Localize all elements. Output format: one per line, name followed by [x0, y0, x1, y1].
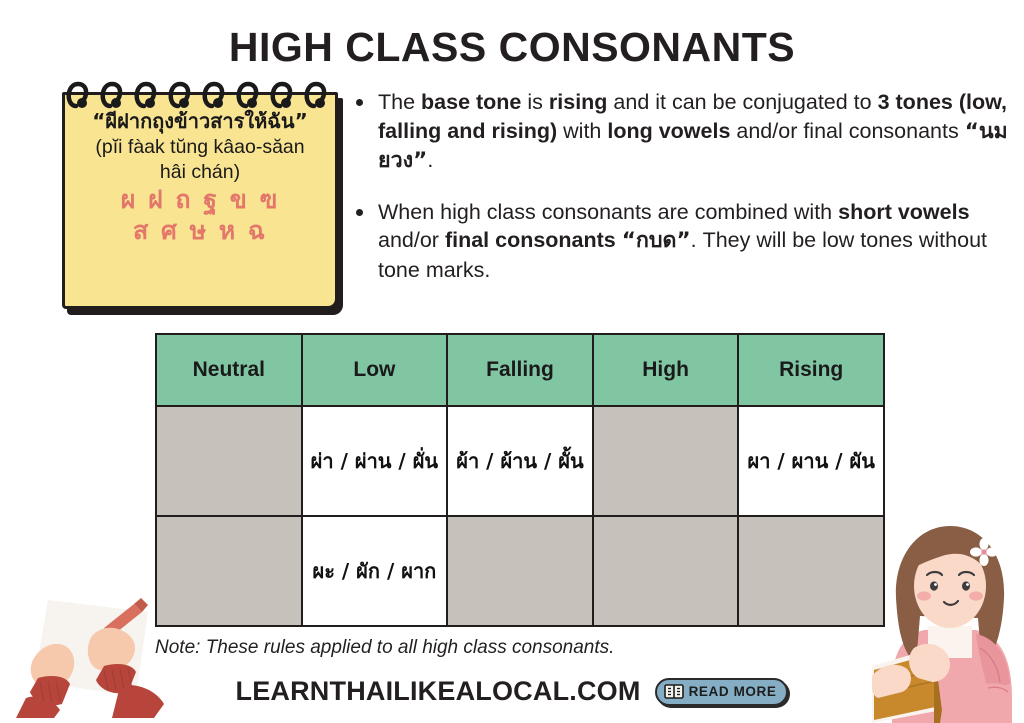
infographic-page: HIGH CLASS CONSONANTS “ผีฝากถุงข้าวสารให… — [0, 0, 1024, 723]
table-cell-r1-c2: ผ่า / ผ่าน / ผั่น — [302, 406, 448, 516]
brand-website-label: LEARNTHAILIKEALOCAL.COM — [236, 676, 641, 707]
rule-1-segment-8: long vowels — [607, 119, 730, 143]
table-header-high: High — [593, 334, 739, 406]
table-body: ผ่า / ผ่าน / ผั่นผ้า / ผ้าน / ผั้นผา / ผ… — [156, 406, 884, 626]
rule-bullet-1: The base tone is rising and it can be co… — [352, 88, 1012, 176]
table-header-row: NeutralLowFallingHighRising — [156, 334, 884, 406]
table-row: ผะ / ผัก / ผาก — [156, 516, 884, 626]
table-cell-r1-c5: ผา / ผาน / ผัน — [738, 406, 884, 516]
table-row: ผ่า / ผ่าน / ผั่นผ้า / ผ้าน / ผั้นผา / ผ… — [156, 406, 884, 516]
table-header-neutral: Neutral — [156, 334, 302, 406]
table-header-row-group: NeutralLowFallingHighRising — [156, 334, 884, 406]
table-cell-r1-c4 — [593, 406, 739, 516]
table-footnote: Note: These rules applied to all high cl… — [155, 637, 614, 659]
note-thai-phrase: “ผีฝากถุงข้าวสารให้ฉัน” — [75, 109, 325, 135]
rule-2-segment-4: final consonants — [445, 228, 622, 252]
bullet-dot-icon — [356, 209, 363, 216]
bullet-dot-icon — [356, 99, 363, 106]
rule-1-segment-11: . — [427, 148, 433, 172]
note-consonants-line-2: ส ศ ษ ห ฉ — [75, 216, 325, 247]
open-book-icon — [664, 684, 684, 699]
girl-reading-illustration — [872, 498, 1024, 723]
rules-bullet-list: The base tone is rising and it can be co… — [352, 88, 1012, 307]
rule-2-segment-5: “กบด” — [622, 228, 691, 253]
tone-conjugation-table: NeutralLowFallingHighRising ผ่า / ผ่าน /… — [155, 333, 885, 627]
table-header-rising: Rising — [738, 334, 884, 406]
footer: LEARNTHAILIKEALOCAL.COM READ MORE — [0, 676, 1024, 707]
rule-2-segment-2: short vowels — [838, 200, 969, 224]
rule-2-segment-3: and/or — [378, 228, 445, 252]
rule-1-segment-2: base tone — [421, 90, 521, 114]
read-more-button[interactable]: READ MORE — [655, 678, 789, 706]
table-cell-r2-c1 — [156, 516, 302, 626]
rule-bullet-2: When high class consonants are combined … — [352, 198, 1012, 285]
table-header-low: Low — [302, 334, 448, 406]
table-cell-r1-c3: ผ้า / ผ้าน / ผั้น — [447, 406, 593, 516]
rule-2-segment-1: When high class consonants are combined … — [378, 200, 838, 224]
rule-1-segment-4: rising — [549, 90, 608, 114]
table-cell-r2-c5 — [738, 516, 884, 626]
page-title: HIGH CLASS CONSONANTS — [0, 24, 1024, 71]
note-romanization-line-1: (pĭi fàak tŭng kâao-săan — [75, 135, 325, 160]
rule-1-segment-7: with — [557, 119, 607, 143]
rule-1-segment-1: The — [378, 90, 421, 114]
note-consonants-line-1: ผ ฝ ถ ฐ ข ฃ — [75, 185, 325, 216]
table-header-falling: Falling — [447, 334, 593, 406]
table-cell-r2-c2: ผะ / ผัก / ผาก — [302, 516, 448, 626]
table-cell-r2-c4 — [593, 516, 739, 626]
rule-1-segment-3: is — [521, 90, 548, 114]
note-romanization-line-2: hâi chán) — [75, 160, 325, 185]
rule-1-segment-9: and/or final consonants — [730, 119, 964, 143]
table-cell-r2-c3 — [447, 516, 593, 626]
read-more-label: READ MORE — [689, 684, 777, 699]
table-cell-r1-c1 — [156, 406, 302, 516]
mnemonic-note-card: “ผีฝากถุงข้าวสารให้ฉัน” (pĭi fàak tŭng k… — [62, 92, 338, 309]
rule-1-segment-5: and it can be conjugated to — [607, 90, 877, 114]
